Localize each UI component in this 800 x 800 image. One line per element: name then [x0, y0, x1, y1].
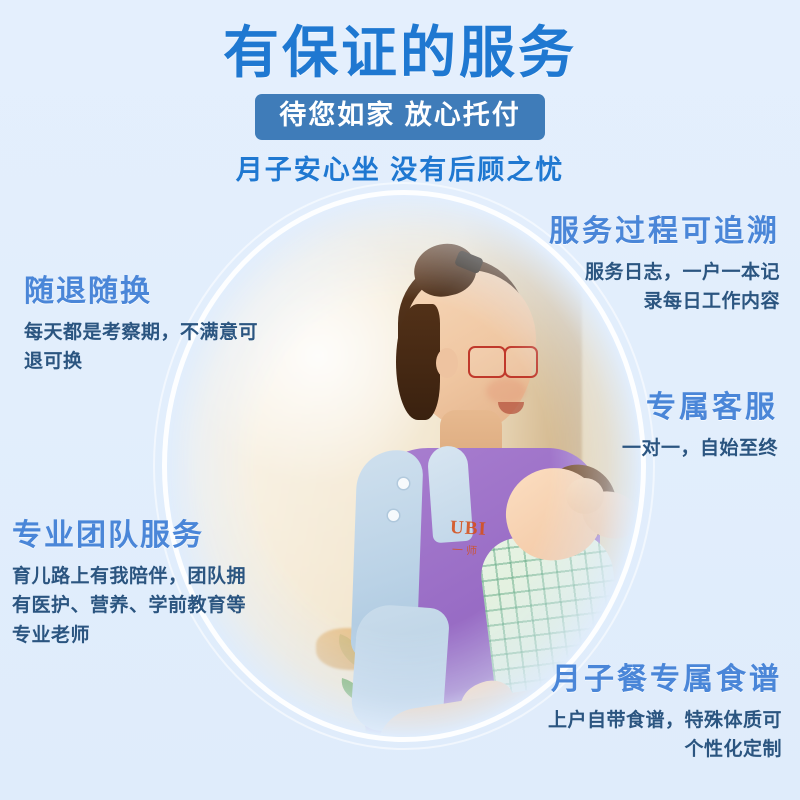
- feature-exchange-title: 随退随换: [24, 274, 324, 310]
- feature-team-body: 育儿路上有我陪伴，团队拥 有医护、营养、学前教育等 专业老师: [12, 562, 322, 650]
- page-title: 有保证的服务: [0, 0, 800, 88]
- feature-traceable-title: 服务过程可追溯: [480, 214, 780, 250]
- feature-meal: 月子餐专属食谱 上户自带食谱，特殊体质可 个性化定制: [482, 662, 782, 765]
- poster-header: 有保证的服务 待您如家 放心托付 月子安心坐 没有后顾之忧: [0, 0, 800, 188]
- feature-service: 专属客服 一对一，自始至终: [518, 390, 778, 463]
- feature-exchange: 随退随换 每天都是考察期，不满意可 退可换: [24, 274, 324, 377]
- feature-exchange-body: 每天都是考察期，不满意可 退可换: [24, 318, 324, 377]
- feature-traceable-body: 服务日志，一户一本记 录每日工作内容: [480, 258, 780, 317]
- feature-meal-body: 上户自带食谱，特殊体质可 个性化定制: [482, 706, 782, 765]
- page-subtitle: 月子安心坐 没有后顾之忧: [0, 154, 800, 188]
- feature-team: 专业团队服务 育儿路上有我陪伴，团队拥 有医护、营养、学前教育等 专业老师: [12, 518, 322, 650]
- badge-row: 待您如家 放心托付: [0, 94, 800, 140]
- feature-meal-title: 月子餐专属食谱: [482, 662, 782, 698]
- poster-root: 有保证的服务 待您如家 放心托付 月子安心坐 没有后顾之忧: [0, 0, 800, 800]
- feature-service-title: 专属客服: [518, 390, 778, 426]
- feature-traceable: 服务过程可追溯 服务日志，一户一本记 录每日工作内容: [480, 214, 780, 317]
- feature-service-body: 一对一，自始至终: [518, 434, 778, 463]
- feature-team-title: 专业团队服务: [12, 518, 322, 554]
- status-badge: 待您如家 放心托付: [255, 94, 545, 140]
